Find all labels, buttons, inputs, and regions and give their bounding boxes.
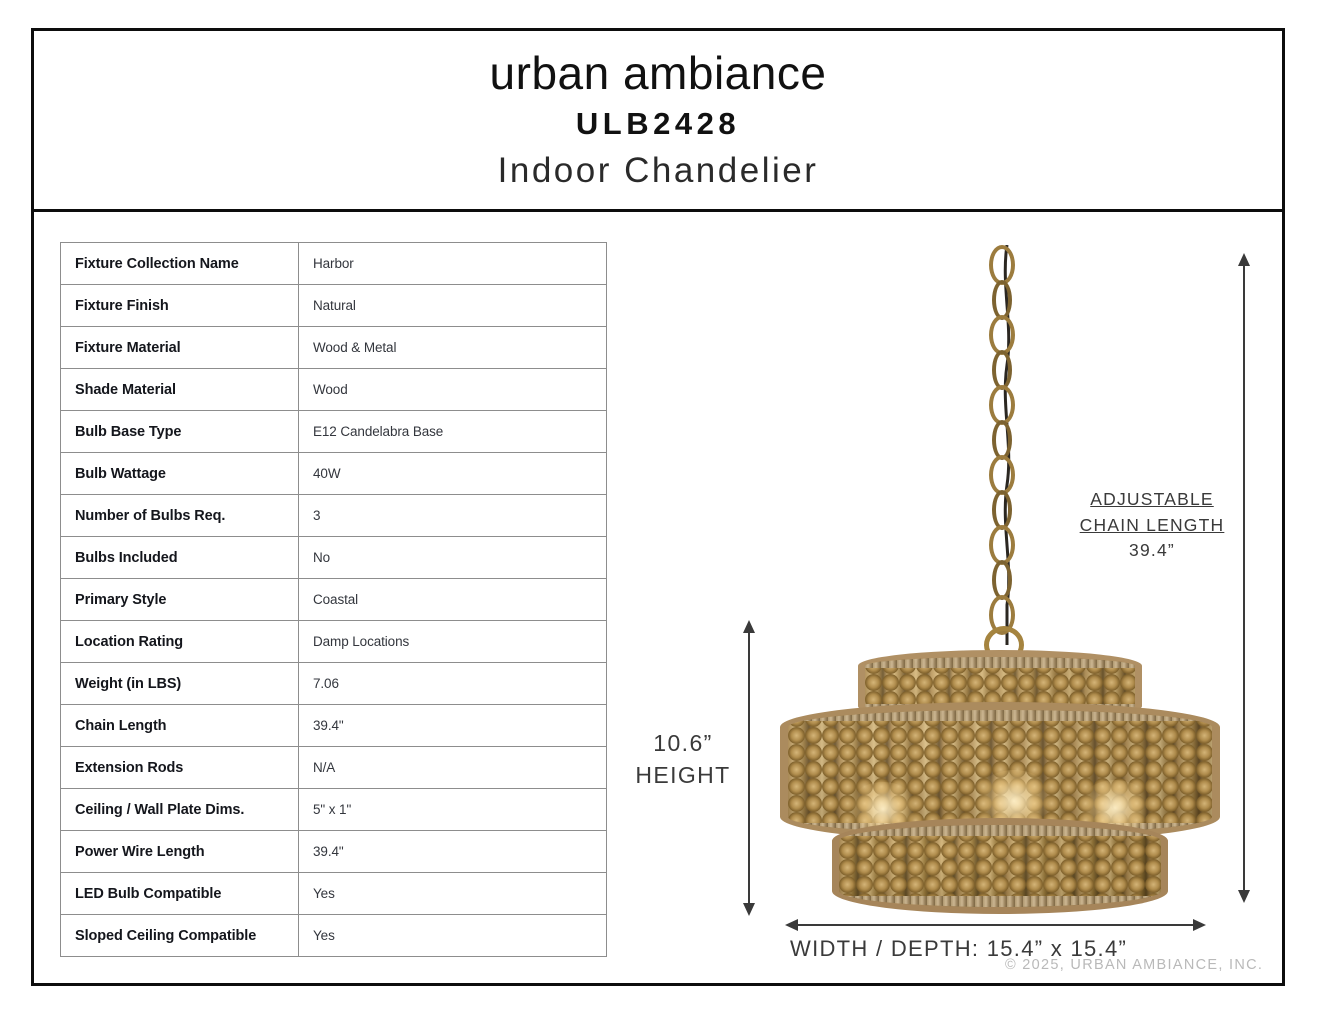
chain-link	[989, 525, 1015, 565]
chain-arrow-bottom	[1238, 890, 1250, 903]
height-label: 10.6” HEIGHT	[618, 728, 748, 791]
bead-texture-middle	[788, 710, 1212, 834]
chain-length-value: 39.4”	[1129, 540, 1175, 560]
spec-value: 3	[299, 495, 607, 537]
rope-band-bot-upper	[839, 825, 1161, 836]
chain-link	[989, 455, 1015, 495]
spec-label: Chain Length	[61, 705, 299, 747]
spec-label: Extension Rods	[61, 747, 299, 789]
table-row: Fixture FinishNatural	[61, 285, 607, 327]
specification-table: Fixture Collection NameHarborFixture Fin…	[60, 242, 607, 957]
spec-value: N/A	[299, 747, 607, 789]
rope-band-top	[865, 657, 1135, 668]
spec-value: Harbor	[299, 243, 607, 285]
rope-band-bot-lower	[839, 896, 1161, 907]
table-row: Primary StyleCoastal	[61, 579, 607, 621]
chain-link	[992, 420, 1012, 460]
rope-band-mid-upper	[788, 710, 1212, 721]
chain-link	[989, 245, 1015, 285]
spec-label: Power Wire Length	[61, 831, 299, 873]
spec-label: Bulbs Included	[61, 537, 299, 579]
chain-arrow-top	[1238, 253, 1250, 266]
model-number: ULB2428	[576, 105, 740, 144]
table-row: Sloped Ceiling CompatibleYes	[61, 915, 607, 957]
table-row: Power Wire Length39.4"	[61, 831, 607, 873]
height-dimension-line	[748, 632, 750, 904]
width-arrow-right	[1193, 919, 1206, 931]
chain-link	[992, 560, 1012, 600]
chain-dimension-line	[1243, 265, 1245, 891]
table-row: Fixture Collection NameHarbor	[61, 243, 607, 285]
height-arrow-bottom	[743, 903, 755, 916]
spec-label: Fixture Material	[61, 327, 299, 369]
spec-value: E12 Candelabra Base	[299, 411, 607, 453]
spec-label: Weight (in LBS)	[61, 663, 299, 705]
table-row: Bulb Wattage40W	[61, 453, 607, 495]
spec-label: Number of Bulbs Req.	[61, 495, 299, 537]
spec-label: Fixture Finish	[61, 285, 299, 327]
spec-label: Location Rating	[61, 621, 299, 663]
table-row: Chain Length39.4"	[61, 705, 607, 747]
spec-value: 5" x 1"	[299, 789, 607, 831]
spec-value: No	[299, 537, 607, 579]
spec-label: Shade Material	[61, 369, 299, 411]
chain-title-line2: CHAIN LENGTH	[1068, 513, 1236, 539]
spec-label: Sloped Ceiling Compatible	[61, 915, 299, 957]
spec-value: Yes	[299, 873, 607, 915]
height-arrow-top	[743, 620, 755, 633]
spec-value: Damp Locations	[299, 621, 607, 663]
table-row: Location RatingDamp Locations	[61, 621, 607, 663]
spec-label: Ceiling / Wall Plate Dims.	[61, 789, 299, 831]
hanging-chain	[975, 245, 1035, 655]
spec-value: 40W	[299, 453, 607, 495]
bead-texture-bottom	[839, 825, 1161, 907]
chain-link	[989, 315, 1015, 355]
width-arrow-left	[785, 919, 798, 931]
brand-name: urban ambiance	[490, 48, 827, 100]
spec-label: Bulb Base Type	[61, 411, 299, 453]
spec-value: 39.4"	[299, 705, 607, 747]
spec-label: Bulb Wattage	[61, 453, 299, 495]
table-row: Number of Bulbs Req.3	[61, 495, 607, 537]
table-row: Extension RodsN/A	[61, 747, 607, 789]
chain-link	[992, 280, 1012, 320]
header-band: urban ambiance ULB2428 Indoor Chandelier	[34, 31, 1282, 212]
spec-value: Coastal	[299, 579, 607, 621]
product-illustration	[620, 230, 1290, 990]
spec-label: LED Bulb Compatible	[61, 873, 299, 915]
chain-link	[992, 350, 1012, 390]
product-type: Indoor Chandelier	[498, 150, 819, 192]
spec-value: 39.4"	[299, 831, 607, 873]
copyright-notice: © 2025, URBAN AMBIANCE, INC.	[1005, 957, 1263, 973]
spec-value: Wood & Metal	[299, 327, 607, 369]
spec-value: Natural	[299, 285, 607, 327]
table-row: Ceiling / Wall Plate Dims.5" x 1"	[61, 789, 607, 831]
table-row: Fixture MaterialWood & Metal	[61, 327, 607, 369]
beaded-shade	[780, 650, 1220, 920]
chain-link	[989, 385, 1015, 425]
spec-label: Fixture Collection Name	[61, 243, 299, 285]
shade-tier-bottom	[832, 818, 1168, 914]
width-dimension-line	[797, 924, 1193, 926]
spec-value: 7.06	[299, 663, 607, 705]
chain-link	[992, 490, 1012, 530]
table-row: Shade MaterialWood	[61, 369, 607, 411]
chain-title-line1: ADJUSTABLE	[1068, 487, 1236, 513]
spec-value: Wood	[299, 369, 607, 411]
chain-length-label: ADJUSTABLE CHAIN LENGTH 39.4”	[1068, 487, 1236, 564]
height-value: 10.6”	[653, 730, 712, 756]
spec-label: Primary Style	[61, 579, 299, 621]
table-row: Weight (in LBS)7.06	[61, 663, 607, 705]
spec-value: Yes	[299, 915, 607, 957]
height-caption: HEIGHT	[635, 762, 730, 788]
table-row: Bulbs IncludedNo	[61, 537, 607, 579]
table-row: LED Bulb CompatibleYes	[61, 873, 607, 915]
table-row: Bulb Base TypeE12 Candelabra Base	[61, 411, 607, 453]
